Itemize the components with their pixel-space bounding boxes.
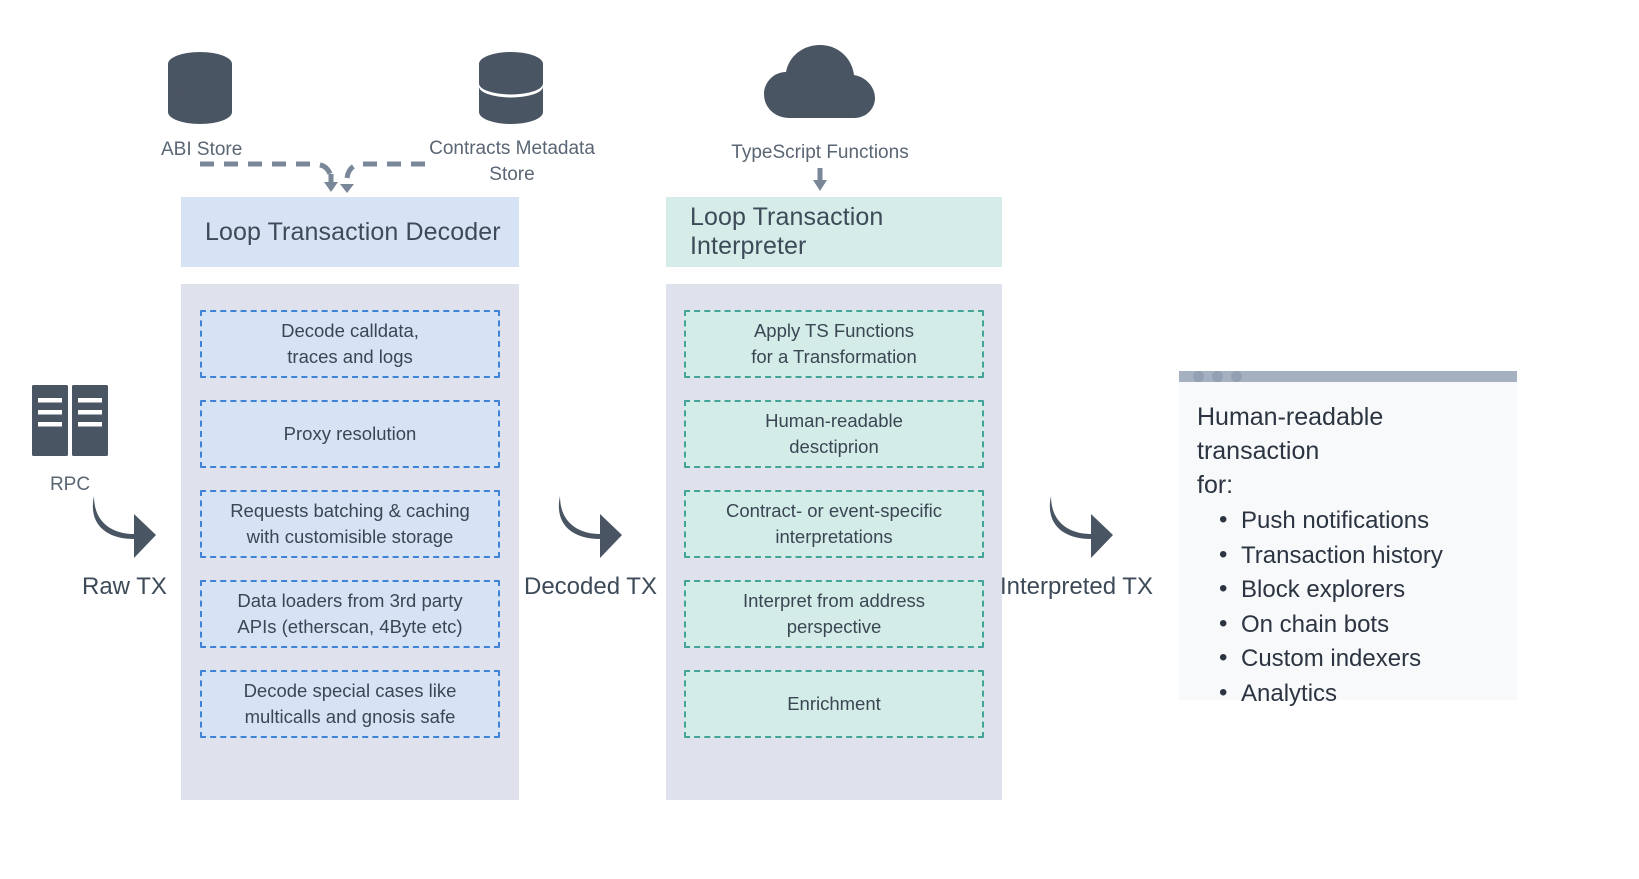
list-item: Analytics xyxy=(1197,677,1495,712)
output-panel-list: Push notifications Transaction history B… xyxy=(1197,504,1495,711)
interpreted-tx-arrow-icon xyxy=(1043,490,1117,567)
decoder-item-4-line2: multicalls and gnosis safe xyxy=(245,704,456,730)
output-panel-title-line1: Human-readable transaction xyxy=(1197,400,1495,468)
interpreter-body: Apply TS Functions for a Transformation … xyxy=(666,284,1002,800)
list-item: Push notifications xyxy=(1197,504,1495,539)
database-icon xyxy=(165,52,235,127)
output-panel-body: Human-readable transaction for: Push not… xyxy=(1179,382,1517,711)
interpreter-item-0-line2: for a Transformation xyxy=(751,344,917,370)
interpreted-tx-label: Interpreted TX xyxy=(1000,573,1153,601)
interpreter-item-3[interactable]: Interpret from address perspective xyxy=(684,580,984,648)
decoder-item-2-line1: Requests batching & caching xyxy=(230,498,470,524)
server-icon xyxy=(30,383,110,458)
list-item: On chain bots xyxy=(1197,608,1495,643)
interpreter-item-2[interactable]: Contract- or event-specific interpretati… xyxy=(684,490,984,558)
interpreter-item-4[interactable]: Enrichment xyxy=(684,670,984,738)
window-dot-maximize-icon[interactable] xyxy=(1231,371,1242,382)
cloud-icon xyxy=(762,42,877,122)
output-panel-titlebar xyxy=(1179,371,1517,382)
decoder-header: Loop Transaction Decoder xyxy=(181,197,519,267)
decoder-item-2-line2: with customisible storage xyxy=(247,524,454,550)
decoder-item-4-line1: Decode special cases like xyxy=(244,678,457,704)
decoded-tx-label: Decoded TX xyxy=(524,573,657,601)
interpreter-title: Loop Transaction Interpreter xyxy=(690,203,1002,261)
interpreter-item-1-line2: desctiprion xyxy=(789,434,878,460)
interpreter-item-0[interactable]: Apply TS Functions for a Transformation xyxy=(684,310,984,378)
output-panel-title: Human-readable transaction for: xyxy=(1197,400,1495,502)
decoder-title: Loop Transaction Decoder xyxy=(205,218,501,247)
decoder-item-1[interactable]: Proxy resolution xyxy=(200,400,500,468)
decoder-item-0-line1: Decode calldata, xyxy=(281,318,419,344)
contracts-metadata-store-label: Contracts Metadata Store xyxy=(424,136,600,188)
output-panel-title-line2: for: xyxy=(1197,468,1495,502)
decoder-item-1-line1: Proxy resolution xyxy=(284,421,417,447)
window-dot-close-icon[interactable] xyxy=(1193,371,1204,382)
interpreter-item-1-line1: Human-readable xyxy=(765,408,903,434)
diagram-canvas: ABI Store Contracts Metadata Store xyxy=(0,0,1639,879)
contracts-metadata-store-node xyxy=(476,52,546,127)
decoder-item-2[interactable]: Requests batching & caching with customi… xyxy=(200,490,500,558)
list-item: Transaction history xyxy=(1197,539,1495,574)
interpreter-item-3-line2: perspective xyxy=(787,614,882,640)
abi-store-node: ABI Store xyxy=(165,52,239,163)
decoded-tx-arrow-icon xyxy=(552,490,626,567)
decoder-item-3-line2: APIs (etherscan, 4Byte etc) xyxy=(237,614,462,640)
decoder-item-4[interactable]: Decode special cases like multicalls and… xyxy=(200,670,500,738)
interpreter-item-2-line1: Contract- or event-specific xyxy=(726,498,942,524)
decoder-item-3[interactable]: Data loaders from 3rd party APIs (ethers… xyxy=(200,580,500,648)
typescript-functions-node xyxy=(762,42,877,122)
decoder-item-0[interactable]: Decode calldata, traces and logs xyxy=(200,310,500,378)
window-dot-minimize-icon[interactable] xyxy=(1212,371,1223,382)
list-item: Custom indexers xyxy=(1197,642,1495,677)
interpreter-item-2-line2: interpretations xyxy=(775,524,892,550)
list-item: Block explorers xyxy=(1197,573,1495,608)
contracts-metadata-store-label-line1: Contracts Metadata xyxy=(424,136,600,162)
raw-tx-arrow-icon xyxy=(86,490,160,567)
interpreter-item-3-line1: Interpret from address xyxy=(743,588,925,614)
rpc-node xyxy=(30,383,110,458)
interpreter-item-1[interactable]: Human-readable desctiprion xyxy=(684,400,984,468)
output-panel: Human-readable transaction for: Push not… xyxy=(1179,371,1517,700)
interpreter-header: Loop Transaction Interpreter xyxy=(666,197,1002,267)
interpreter-item-4-line1: Enrichment xyxy=(787,691,881,717)
typescript-functions-label: TypeScript Functions xyxy=(700,140,940,166)
database-icon xyxy=(476,52,546,127)
interpreter-item-0-line1: Apply TS Functions xyxy=(754,318,914,344)
contracts-metadata-store-label-line2: Store xyxy=(424,162,600,188)
typescript-functions-connector xyxy=(810,168,830,199)
decoder-body: Decode calldata, traces and logs Proxy r… xyxy=(181,284,519,800)
decoder-item-3-line1: Data loaders from 3rd party xyxy=(237,588,462,614)
decoder-item-0-line2: traces and logs xyxy=(287,344,412,370)
raw-tx-label: Raw TX xyxy=(82,573,167,601)
store-to-decoder-connectors xyxy=(195,150,430,200)
